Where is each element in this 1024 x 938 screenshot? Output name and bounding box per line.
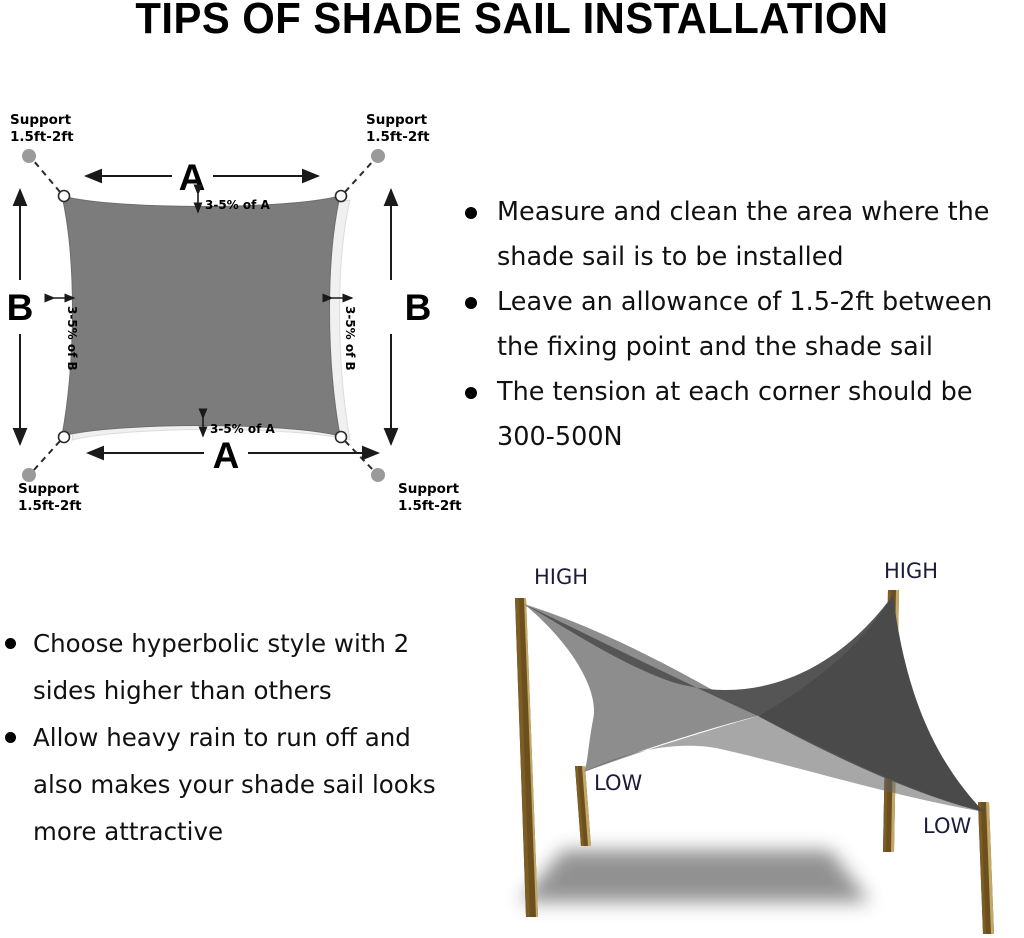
installation-tips-list: Measure and clean the area where the sha… xyxy=(455,190,1024,460)
list-item-text: The tension at each corner should be 300… xyxy=(497,377,973,452)
list-item-text: Choose hyperbolic style with 2 sides hig… xyxy=(33,629,409,705)
support-label-bottom-left-line1: Support xyxy=(18,481,80,497)
dimension-label-left-B: B xyxy=(7,287,34,328)
list-item-text: Measure and clean the area where the sha… xyxy=(497,197,989,272)
bullet-dot-icon xyxy=(465,207,477,219)
hyper-diagram-svg: HIGH HIGH LOW LOW xyxy=(460,550,1024,934)
support-leader-bottom-right xyxy=(345,441,374,471)
corner-ring-bottom-right xyxy=(336,432,347,443)
list-item-text: Leave an allowance of 1.5-2ft between th… xyxy=(497,287,992,362)
corner-ring-top-left xyxy=(59,191,70,202)
shade-sail-instruction-page: TIPS OF SHADE SAIL INSTALLATION Support xyxy=(0,0,1024,934)
support-label-top-right-line2: 1.5ft-2ft xyxy=(366,129,430,145)
list-item: Measure and clean the area where the sha… xyxy=(455,190,1024,280)
support-dot-top-right xyxy=(371,149,385,163)
list-item: Leave an allowance of 1.5-2ft between th… xyxy=(455,280,1024,370)
support-label-top-right-line1: Support xyxy=(366,112,428,128)
hyperbolic-sail-diagram: HIGH HIGH LOW LOW xyxy=(460,550,1024,934)
corner-ring-bottom-left xyxy=(59,432,70,443)
support-leader-top-left xyxy=(33,160,60,192)
label-low-left: LOW xyxy=(594,771,642,795)
corner-ring-top-right xyxy=(336,191,347,202)
support-label-bottom-right-line2: 1.5ft-2ft xyxy=(398,498,462,514)
bullet-dot-icon xyxy=(465,387,477,399)
installation-tips-panel: Measure and clean the area where the sha… xyxy=(455,190,1024,460)
support-label-top-left-line2: 1.5ft-2ft xyxy=(10,129,74,145)
dimension-label-top-A: A xyxy=(179,157,206,198)
hyperbolic-style-panel: Choose hyperbolic style with 2 sides hig… xyxy=(0,620,450,855)
curvature-label-right: 3-5% of B xyxy=(343,306,357,371)
support-dot-bottom-right xyxy=(371,468,385,482)
bullet-dot-icon xyxy=(5,732,16,743)
support-leader-top-right xyxy=(345,160,374,192)
label-high-left: HIGH xyxy=(534,565,588,589)
list-item: Choose hyperbolic style with 2 sides hig… xyxy=(0,620,450,714)
page-title: TIPS OF SHADE SAIL INSTALLATION xyxy=(26,0,999,44)
support-label-bottom-left-line2: 1.5ft-2ft xyxy=(18,498,82,514)
list-item: Allow heavy rain to run off and also mak… xyxy=(0,714,450,855)
dimension-label-right-B: B xyxy=(405,287,432,328)
post-low-right xyxy=(978,802,994,934)
list-item: The tension at each corner should be 300… xyxy=(455,370,1024,460)
label-low-right: LOW xyxy=(923,814,971,838)
ground-shadow xyxy=(520,850,870,902)
dimension-label-bottom-A: A xyxy=(213,435,240,476)
bullet-dot-icon xyxy=(465,297,477,309)
post-high-left xyxy=(515,598,538,917)
post-low-left xyxy=(575,766,591,846)
support-label-bottom-right-line1: Support xyxy=(398,481,460,497)
list-item-text: Allow heavy rain to run off and also mak… xyxy=(33,723,436,846)
curvature-label-top: 3-5% of A xyxy=(205,198,271,212)
hyperbolic-style-list: Choose hyperbolic style with 2 sides hig… xyxy=(0,620,450,855)
label-high-right: HIGH xyxy=(884,559,938,583)
curvature-label-left: 3-5% of B xyxy=(65,306,79,371)
support-dot-bottom-left xyxy=(22,468,36,482)
support-leader-bottom-left xyxy=(33,441,60,471)
bullet-dot-icon xyxy=(5,638,16,649)
support-dot-top-left xyxy=(22,149,36,163)
sail-body xyxy=(62,196,340,436)
curvature-label-bottom: 3-5% of A xyxy=(210,422,276,436)
rect-diagram-svg: Support 1.5ft-2ft Support 1.5ft-2ft Supp… xyxy=(0,108,470,518)
support-label-top-left-line1: Support xyxy=(10,112,72,128)
rectangular-sail-diagram: Support 1.5ft-2ft Support 1.5ft-2ft Supp… xyxy=(0,108,470,518)
